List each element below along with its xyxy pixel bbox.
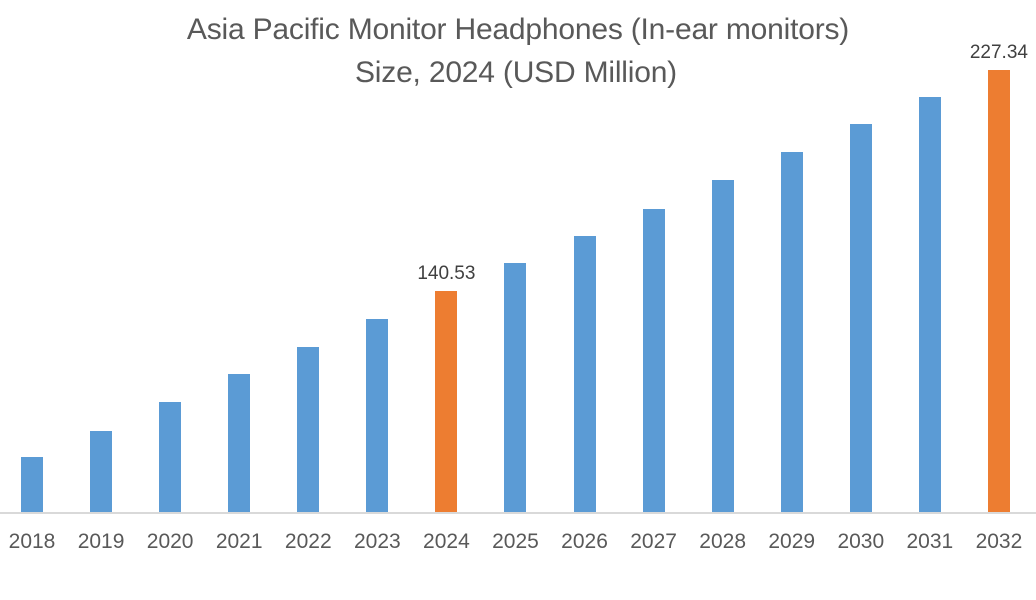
category-label-2032: 2032 xyxy=(966,528,1032,555)
bar-2021[interactable] xyxy=(228,374,250,512)
category-label-2026: 2026 xyxy=(552,528,618,555)
category-label-2022: 2022 xyxy=(275,528,341,555)
category-label-2024: 2024 xyxy=(413,528,479,555)
category-label-2028: 2028 xyxy=(690,528,756,555)
bar-2029[interactable] xyxy=(781,152,803,512)
bar-2022[interactable] xyxy=(297,347,319,512)
category-label-2029: 2029 xyxy=(759,528,825,555)
bar-2018[interactable] xyxy=(21,457,43,512)
category-axis-labels: 2018201920202021202220232024202520262027… xyxy=(0,528,1036,558)
data-label-2024: 140.53 xyxy=(391,263,501,285)
bar-2025[interactable] xyxy=(504,263,526,512)
bar-2027[interactable] xyxy=(643,209,665,512)
category-label-2027: 2027 xyxy=(621,528,687,555)
category-label-2030: 2030 xyxy=(828,528,894,555)
bar-2028[interactable] xyxy=(712,180,734,512)
bar-2026[interactable] xyxy=(574,236,596,512)
category-label-2021: 2021 xyxy=(206,528,272,555)
category-label-2019: 2019 xyxy=(68,528,134,555)
bar-2030[interactable] xyxy=(850,124,872,512)
bar-2023[interactable] xyxy=(366,319,388,512)
category-label-2031: 2031 xyxy=(897,528,963,555)
category-axis-line xyxy=(0,512,1036,514)
bar-2020[interactable] xyxy=(159,402,181,512)
category-label-2018: 2018 xyxy=(0,528,65,555)
bar-2031[interactable] xyxy=(919,97,941,512)
plot-area: 140.53227.34 xyxy=(0,0,1036,514)
bar-2024[interactable] xyxy=(435,291,457,512)
bar-2032[interactable] xyxy=(988,70,1010,512)
data-label-2032: 227.34 xyxy=(944,42,1036,64)
category-label-2023: 2023 xyxy=(344,528,410,555)
category-label-2025: 2025 xyxy=(482,528,548,555)
category-label-2020: 2020 xyxy=(137,528,203,555)
bar-2019[interactable] xyxy=(90,431,112,512)
bar-chart: Asia Pacific Monitor Headphones (In-ear … xyxy=(0,0,1036,600)
